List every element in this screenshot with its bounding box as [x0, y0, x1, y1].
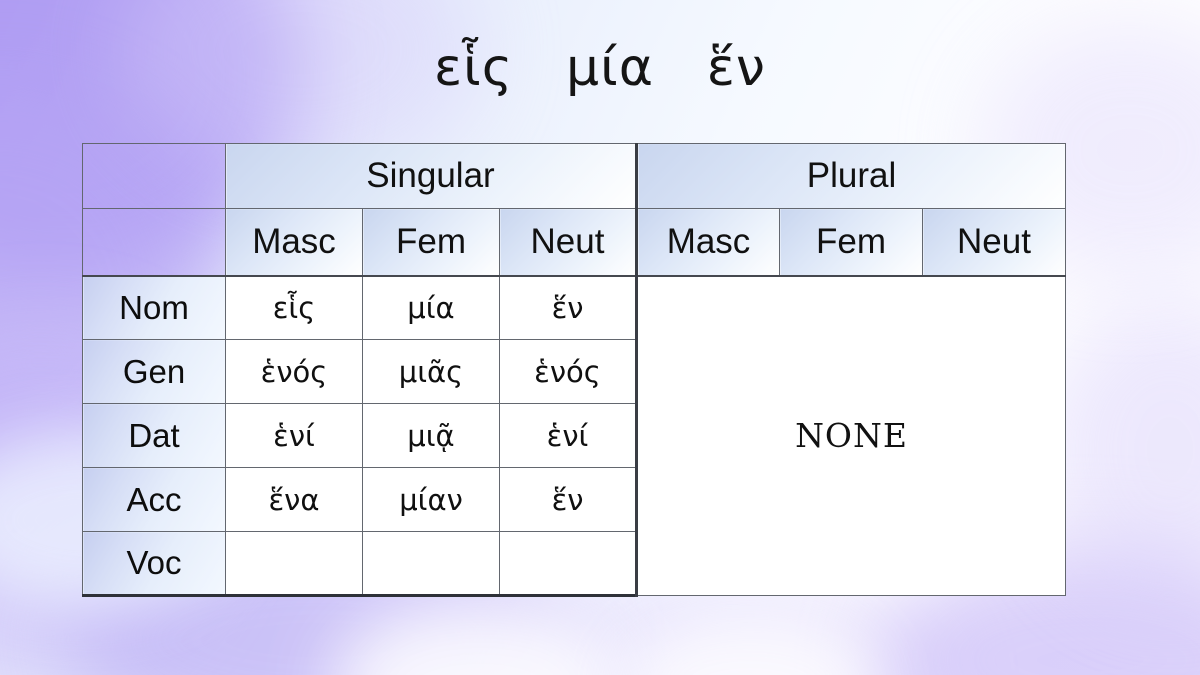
cell-nom-masc: εἷς	[226, 276, 363, 340]
cell-gen-masc: ἑνός	[226, 340, 363, 404]
header-singular: Singular	[226, 144, 637, 209]
declension-table: Singular Plural Masc Fem Neut Masc Fem N…	[82, 143, 1066, 597]
header-singular-masc: Masc	[226, 209, 363, 276]
row-label-acc: Acc	[83, 468, 226, 532]
cell-voc-neut	[500, 532, 637, 596]
row-label-nom: Nom	[83, 276, 226, 340]
row-label-voc: Voc	[83, 532, 226, 596]
cell-dat-neut: ἑνί	[500, 404, 637, 468]
cell-acc-fem: μίαν	[363, 468, 500, 532]
cell-nom-fem: μία	[363, 276, 500, 340]
header-singular-neut: Neut	[500, 209, 637, 276]
cell-gen-neut: ἑνός	[500, 340, 637, 404]
plural-none-cell: NONE	[637, 276, 1066, 596]
header-plural-fem: Fem	[780, 209, 923, 276]
header-plural-masc: Masc	[637, 209, 780, 276]
header-singular-fem: Fem	[363, 209, 500, 276]
table-corner-cell	[83, 144, 226, 209]
row-label-dat: Dat	[83, 404, 226, 468]
row-label-gen: Gen	[83, 340, 226, 404]
header-plural-neut: Neut	[923, 209, 1066, 276]
slide-canvas: εἷς μία ἕν Singular Plural Masc Fem Neut…	[0, 0, 1200, 675]
page-title: εἷς μία ἕν	[0, 42, 1200, 94]
table-header-row-number: Singular Plural	[83, 144, 1066, 209]
cell-dat-fem: μιᾷ	[363, 404, 500, 468]
declension-table-container: Singular Plural Masc Fem Neut Masc Fem N…	[82, 143, 1066, 597]
table-corner-cell-2	[83, 209, 226, 276]
cell-voc-masc	[226, 532, 363, 596]
cell-gen-fem: μιᾶς	[363, 340, 500, 404]
header-plural: Plural	[637, 144, 1066, 209]
cell-dat-masc: ἑνί	[226, 404, 363, 468]
table-header-row-gender: Masc Fem Neut Masc Fem Neut	[83, 209, 1066, 276]
cell-voc-fem	[363, 532, 500, 596]
cell-acc-masc: ἕνα	[226, 468, 363, 532]
cell-nom-neut: ἕν	[500, 276, 637, 340]
table-row: Nom εἷς μία ἕν NONE	[83, 276, 1066, 340]
cell-acc-neut: ἕν	[500, 468, 637, 532]
